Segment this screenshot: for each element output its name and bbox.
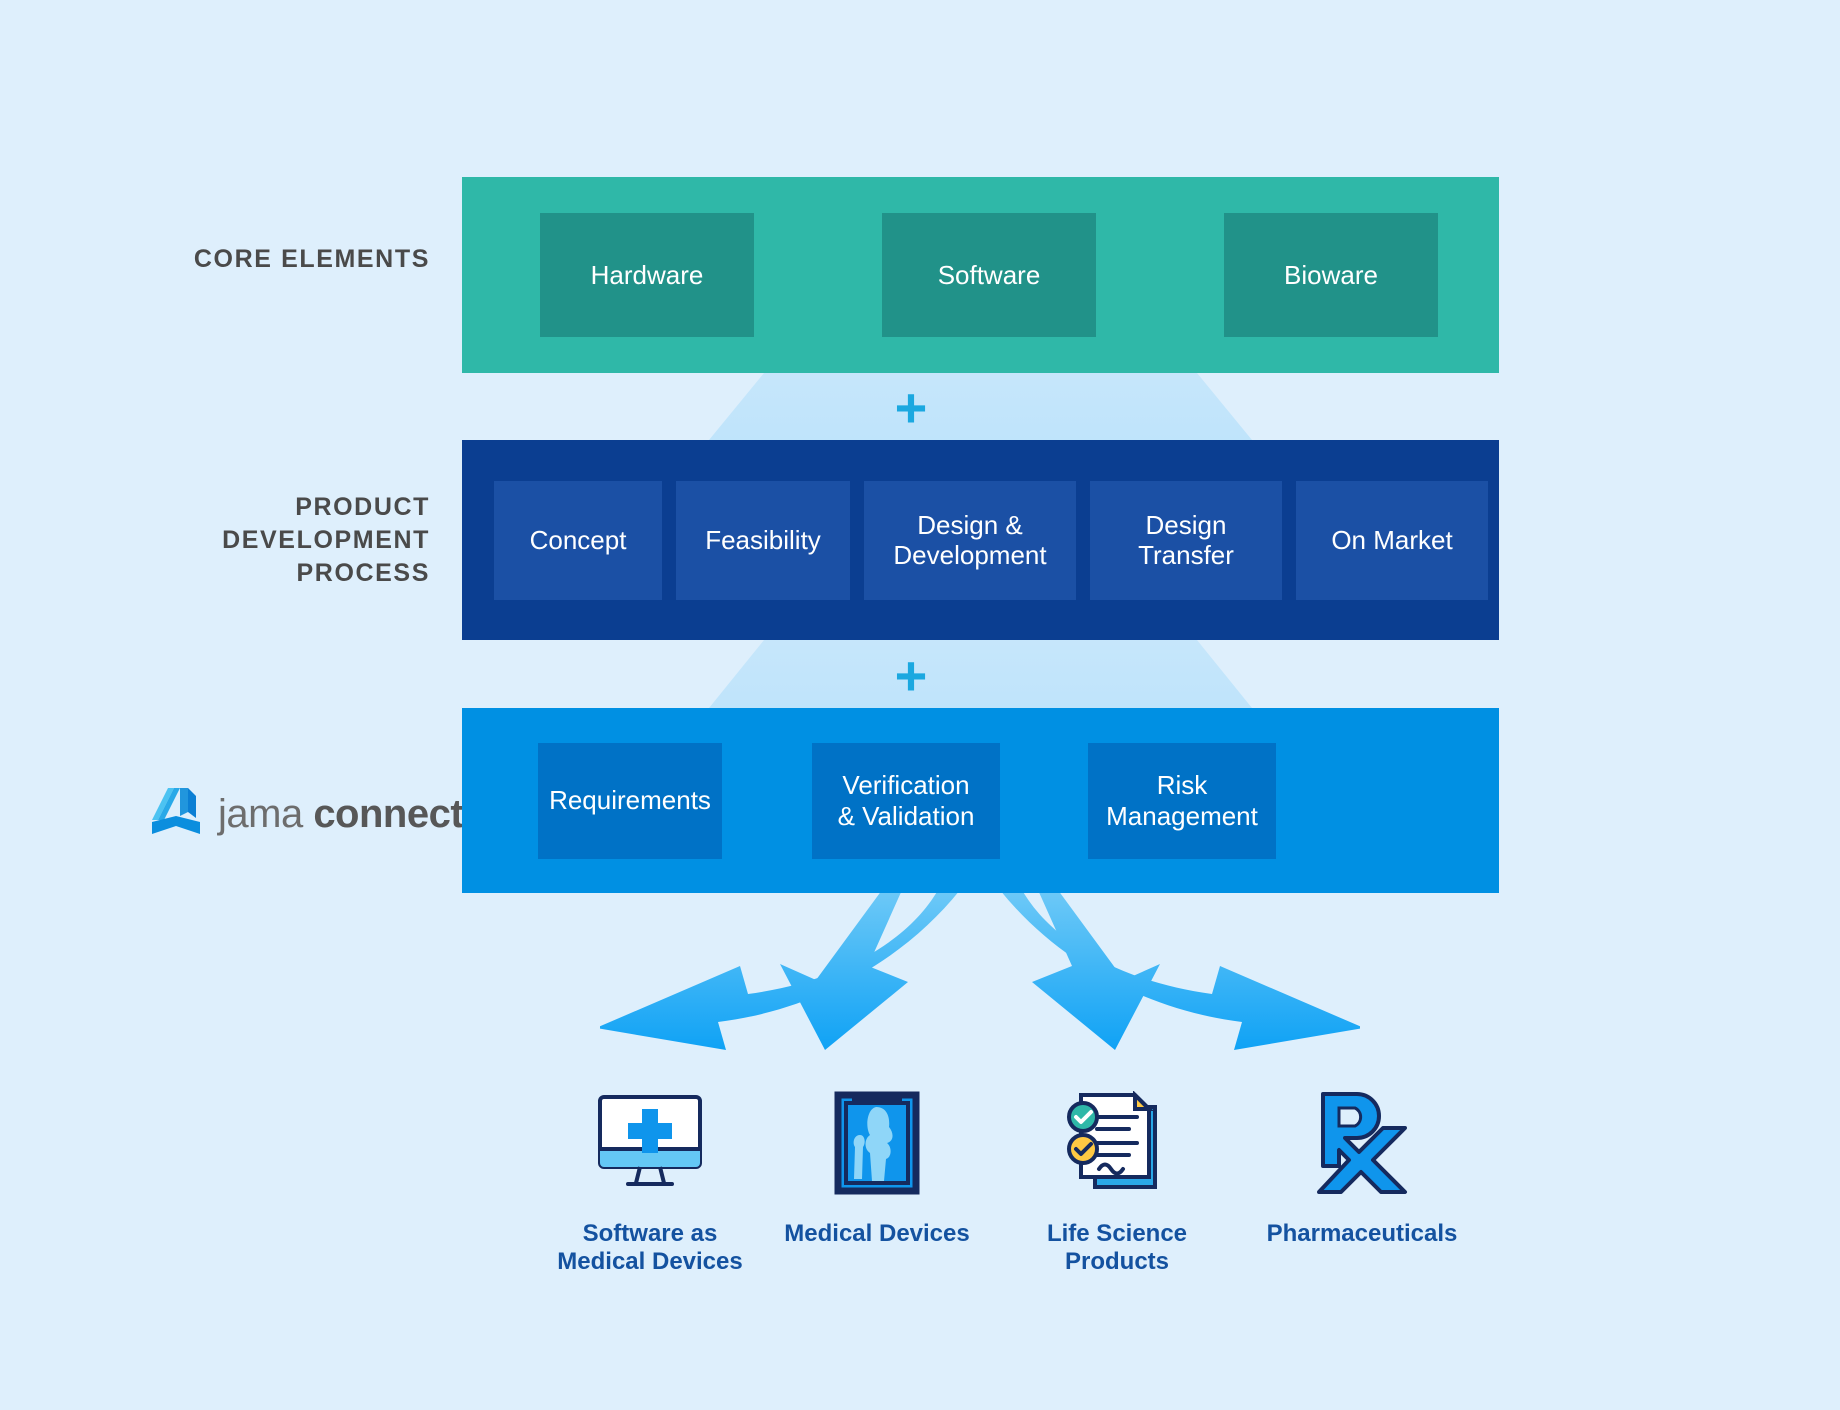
outcome-card-label-4: Pharmaceuticals bbox=[1247, 1220, 1477, 1248]
jama-chip-verification-and-validation[interactable]: Verification & Validation bbox=[812, 743, 1000, 859]
jama-chip-rm-line-2: Management bbox=[1106, 801, 1258, 831]
row-label-product-development-process: PRODUCT DEVELOPMENT PROCESS bbox=[80, 491, 430, 590]
row-label-core-elements: CORE ELEMENTS bbox=[80, 243, 430, 276]
outcome-card-medical-devices[interactable]: Medical Devices bbox=[762, 1085, 992, 1248]
process-chip-feasibility[interactable]: Feasibility bbox=[676, 481, 850, 600]
jama-connect-wordmark: jama connect® bbox=[218, 792, 474, 837]
outcome-label-1-line-1: Software as bbox=[535, 1220, 765, 1248]
jama-connect-logo: jama connect® bbox=[148, 786, 474, 843]
xray-bone-icon bbox=[762, 1085, 992, 1200]
core-elements-bar: Hardware Software Bioware bbox=[462, 177, 1499, 373]
core-element-chip-software[interactable]: Software bbox=[882, 213, 1096, 337]
outcome-label-2-line-1: Medical Devices bbox=[762, 1220, 992, 1248]
row-label-pdp-line-3: PROCESS bbox=[80, 557, 430, 590]
outcome-card-label-1: Software as Medical Devices bbox=[535, 1220, 765, 1276]
core-element-chip-hardware[interactable]: Hardware bbox=[540, 213, 754, 337]
fan-arrow-2 bbox=[780, 890, 908, 1050]
outcome-label-3-line-1: Life Science bbox=[1002, 1220, 1232, 1248]
process-chip-on-market[interactable]: On Market bbox=[1296, 481, 1488, 600]
row-label-pdp-line-1: PRODUCT bbox=[80, 491, 430, 524]
jama-wordmark-bold: connect bbox=[313, 792, 463, 836]
outcome-card-life-science-products[interactable]: Life Science Products bbox=[1002, 1085, 1232, 1276]
row-label-core-elements-text: CORE ELEMENTS bbox=[194, 245, 430, 273]
plus-icon-process-to-jama: + bbox=[0, 648, 1840, 704]
jama-chip-vv-line-1: Verification bbox=[838, 770, 975, 800]
jama-chip-risk-management[interactable]: Risk Management bbox=[1088, 743, 1276, 859]
product-development-process-bar: Concept Feasibility Design & Development… bbox=[462, 440, 1499, 640]
process-chip-dd-line-2: Development bbox=[893, 540, 1046, 570]
outcome-card-label-3: Life Science Products bbox=[1002, 1220, 1232, 1276]
outcome-label-1-line-2: Medical Devices bbox=[535, 1248, 765, 1276]
outcome-card-software-as-medical-devices[interactable]: Software as Medical Devices bbox=[535, 1085, 765, 1276]
process-chip-dd-line-1: Design & bbox=[893, 510, 1046, 540]
jama-connect-bar: Requirements Verification & Validation R… bbox=[462, 708, 1499, 893]
outcome-card-pharmaceuticals[interactable]: Pharmaceuticals bbox=[1247, 1085, 1477, 1248]
process-chip-design-and-development[interactable]: Design & Development bbox=[864, 481, 1076, 600]
outcome-card-label-2: Medical Devices bbox=[762, 1220, 992, 1248]
jama-mark-icon bbox=[148, 786, 204, 843]
process-chip-dt-line-1: Design bbox=[1138, 510, 1234, 540]
jama-chip-rm-line-1: Risk bbox=[1106, 770, 1258, 800]
jama-wordmark-light: jama bbox=[218, 792, 313, 836]
process-chip-dt-line-2: Transfer bbox=[1138, 540, 1234, 570]
outcome-label-3-line-2: Products bbox=[1002, 1248, 1232, 1276]
outcome-label-4-line-1: Pharmaceuticals bbox=[1247, 1220, 1477, 1248]
process-chip-design-transfer[interactable]: Design Transfer bbox=[1090, 481, 1282, 600]
row-label-pdp-line-2: DEVELOPMENT bbox=[80, 524, 430, 557]
fan-arrow-1 bbox=[600, 890, 960, 1050]
jama-chip-vv-line-2: & Validation bbox=[838, 801, 975, 831]
plus-icon-core-to-process: + bbox=[0, 380, 1840, 436]
process-chip-concept[interactable]: Concept bbox=[494, 481, 662, 600]
monitor-medical-cross-icon bbox=[535, 1085, 765, 1200]
fan-arrows-group bbox=[600, 890, 1360, 1050]
checklist-document-icon bbox=[1002, 1085, 1232, 1200]
jama-chip-requirements[interactable]: Requirements bbox=[538, 743, 722, 859]
diagram-canvas: CORE ELEMENTS PRODUCT DEVELOPMENT PROCES… bbox=[0, 0, 1840, 1410]
rx-prescription-icon bbox=[1247, 1085, 1477, 1200]
core-element-chip-bioware[interactable]: Bioware bbox=[1224, 213, 1438, 337]
